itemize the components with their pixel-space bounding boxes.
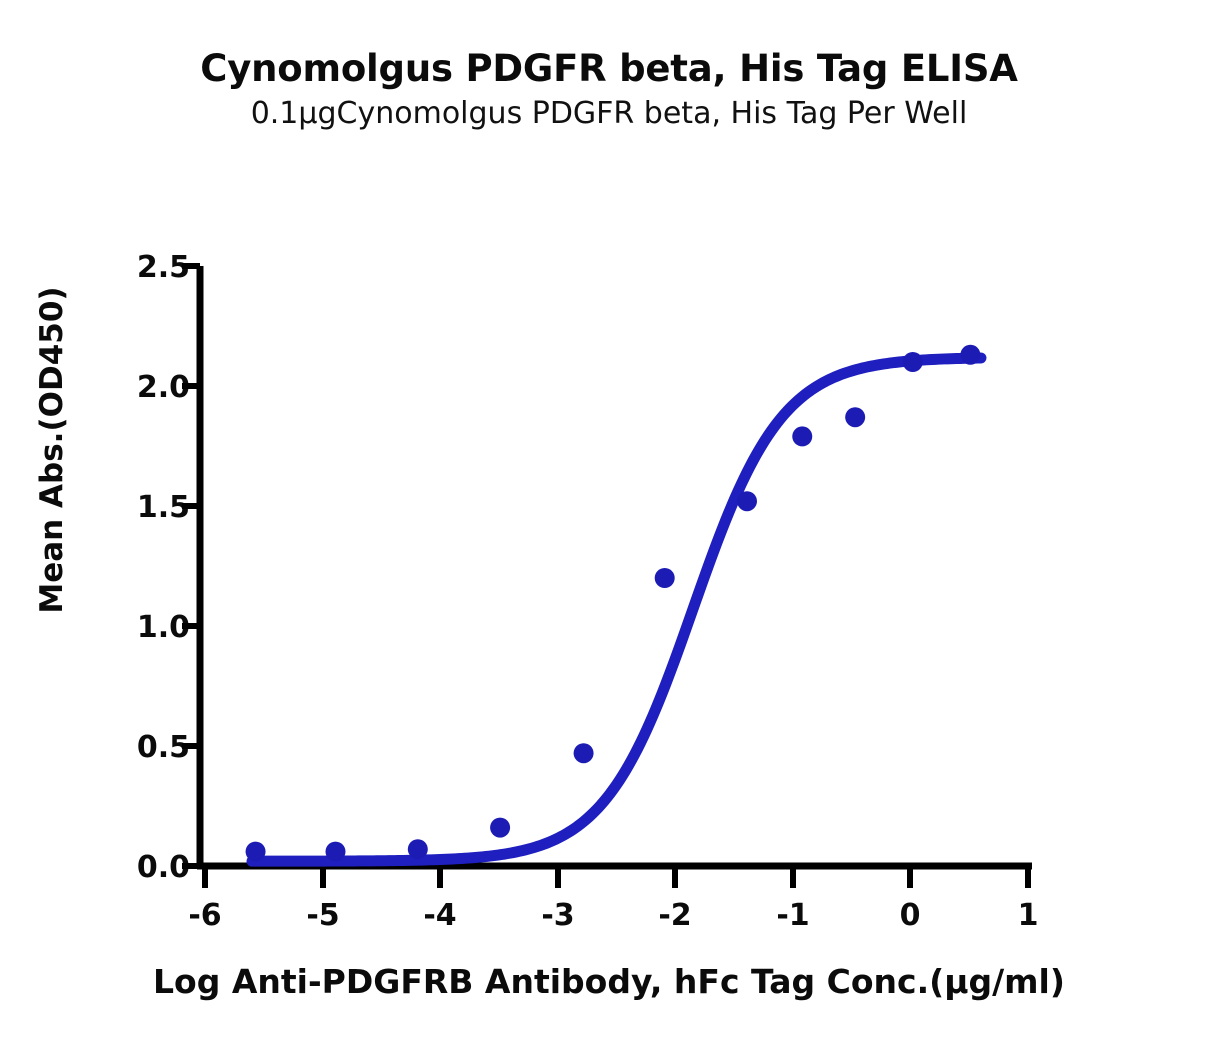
data-point bbox=[737, 491, 757, 511]
data-point bbox=[655, 568, 675, 588]
data-point bbox=[903, 352, 923, 372]
data-point bbox=[960, 345, 980, 365]
data-point bbox=[408, 839, 428, 859]
data-point bbox=[490, 818, 510, 838]
data-point bbox=[792, 426, 812, 446]
elisa-chart-figure: Cynomolgus PDGFR beta, His Tag ELISA 0.1… bbox=[0, 0, 1218, 1064]
data-point bbox=[574, 743, 594, 763]
data-point bbox=[246, 842, 266, 862]
data-point bbox=[845, 407, 865, 427]
sigmoid-fit-curve bbox=[252, 358, 981, 861]
data-point bbox=[326, 842, 346, 862]
plot-area bbox=[0, 0, 1218, 1064]
